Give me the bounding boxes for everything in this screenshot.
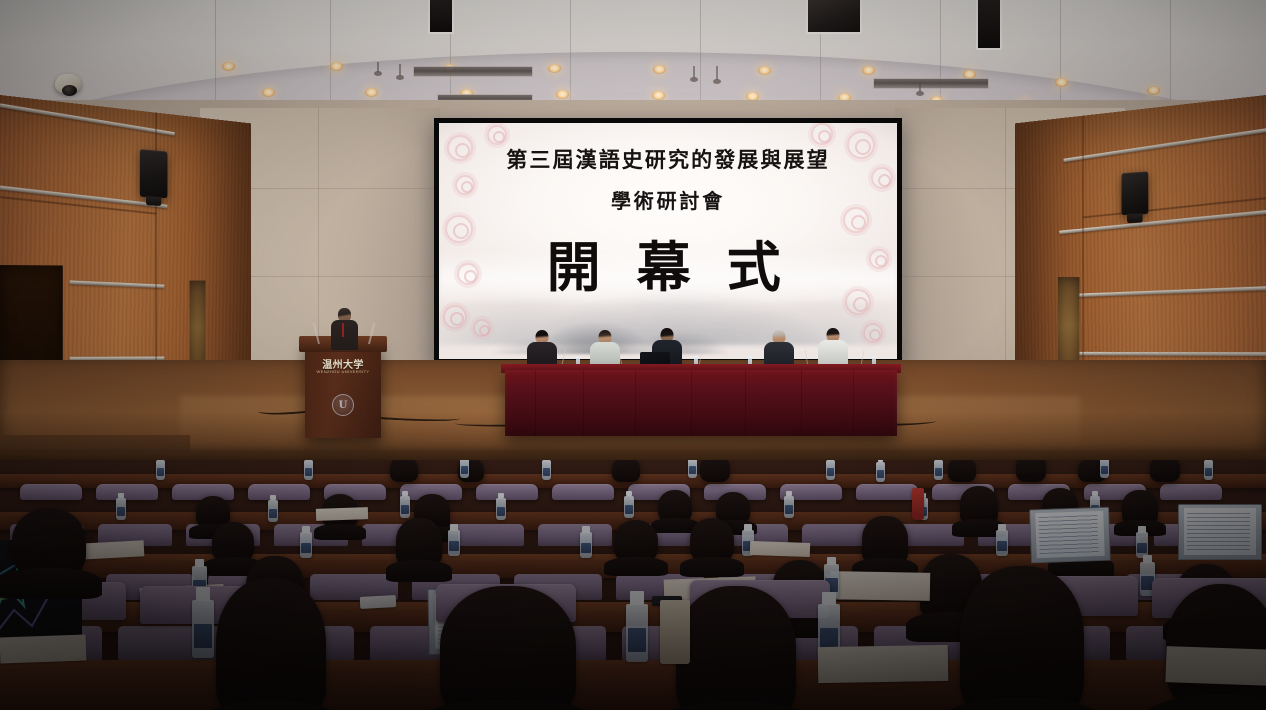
paper-handout	[316, 507, 368, 521]
audience-member	[1150, 460, 1180, 482]
lectern: 温州大学 WENZHOU UNIVERSITY U	[305, 342, 381, 438]
notebook-open	[818, 645, 949, 683]
screen-title-line-1: 第三屆漢語史研究的發展與展望	[439, 144, 897, 174]
audience-member	[948, 460, 976, 482]
audience-seat[interactable]	[552, 484, 614, 500]
audience-member	[960, 566, 1084, 710]
audience-member	[700, 460, 730, 482]
lectern-university-name-en: WENZHOU UNIVERSITY	[305, 369, 381, 374]
water-bottle	[268, 500, 278, 522]
screen-title-line-2: 學術研討會	[439, 185, 897, 214]
ceiling-projector-box	[806, 0, 862, 34]
paper-handout	[750, 541, 810, 557]
audience-member	[676, 586, 796, 710]
audience-member	[862, 516, 908, 564]
audience-seat[interactable]	[96, 484, 158, 500]
audience-seating-area	[0, 460, 1266, 710]
audience-member	[960, 486, 998, 524]
audience-seat[interactable]	[476, 484, 538, 500]
audience-member	[1122, 490, 1158, 524]
attendee-laptop[interactable]	[1178, 504, 1262, 560]
water-bottle	[580, 532, 592, 558]
water-bottle	[304, 460, 313, 480]
water-bottle	[1100, 460, 1109, 478]
screen-surface: 第三屆漢語史研究的發展與展望 學術研討會 開 幕 式	[439, 123, 897, 359]
laptop-screen-text	[1038, 515, 1098, 553]
audience-member	[614, 520, 658, 562]
security-camera-icon	[55, 74, 81, 94]
red-thermos	[912, 488, 924, 520]
audience-member	[612, 460, 640, 482]
water-bottle	[996, 530, 1008, 556]
screen-headline: 開 幕 式	[439, 223, 897, 302]
water-bottle	[626, 604, 648, 662]
audience-member	[12, 508, 86, 576]
beige-thermos	[660, 600, 690, 664]
audience-member	[212, 522, 254, 562]
water-bottle	[496, 498, 506, 520]
university-crest-icon: U	[332, 394, 354, 416]
audience-member	[658, 490, 692, 522]
audience-member	[216, 578, 326, 710]
audience-seat[interactable]	[1160, 484, 1222, 500]
notebook-open	[830, 571, 930, 601]
water-bottle	[300, 532, 312, 558]
water-bottle	[156, 460, 165, 480]
smartphone[interactable]	[360, 595, 397, 609]
water-bottle	[934, 460, 943, 480]
water-bottle	[1204, 460, 1213, 480]
laptop-screen-text	[1187, 513, 1249, 551]
notebook-open	[1165, 646, 1266, 686]
water-bottle	[826, 460, 835, 480]
audience-seat[interactable]	[248, 484, 310, 500]
water-bottle	[448, 530, 460, 556]
wall-speaker-right	[1121, 171, 1148, 215]
audience-member	[396, 518, 442, 566]
water-bottle	[876, 462, 885, 482]
audience-seat-back[interactable]	[450, 524, 524, 546]
auditorium-scene: 第三屆漢語史研究的發展與展望 學術研討會 開 幕 式 温州大学 WENZHOU …	[0, 0, 1266, 710]
speaker-lanyard	[342, 323, 344, 337]
water-bottle	[624, 496, 634, 518]
audience-seat[interactable]	[20, 484, 82, 500]
ceiling-light-slot-left	[428, 0, 454, 34]
head-table-skirt	[505, 370, 897, 436]
water-bottle	[460, 460, 469, 478]
audience-seat[interactable]	[856, 484, 918, 500]
ceiling-air-vent-right	[873, 78, 989, 89]
water-bottle	[400, 496, 410, 518]
ceiling-air-vent-left	[413, 66, 533, 77]
water-bottle	[116, 498, 126, 520]
audience-seat-back[interactable]	[538, 524, 612, 546]
speaker-body	[331, 320, 358, 350]
attendee-laptop[interactable]	[1029, 507, 1111, 564]
water-bottle	[784, 496, 794, 518]
audience-member	[440, 586, 576, 710]
water-bottle	[542, 460, 551, 480]
wall-speaker-left	[140, 149, 168, 198]
audience-member	[690, 518, 734, 562]
water-bottle	[192, 600, 214, 658]
panelist-body	[818, 340, 848, 366]
water-bottle	[688, 460, 697, 478]
ceiling-light-slot-right	[976, 0, 1002, 50]
audience-member	[1016, 460, 1046, 482]
speaker-at-lectern	[329, 308, 359, 348]
paper-handout	[0, 635, 86, 664]
audience-member	[390, 460, 418, 482]
